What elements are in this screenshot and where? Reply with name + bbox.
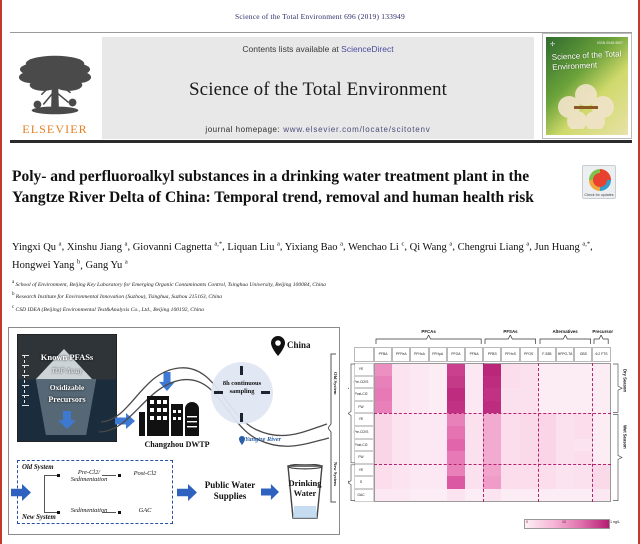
heatmap-cell [447,388,465,401]
heatmap-cell [429,388,447,401]
heatmap-cell [374,476,392,489]
heatmap-group-label: PFCAs [374,329,483,334]
old-system-label: Old System [22,464,54,471]
author-name: Jun Huang a,* [535,242,591,253]
heatmap-cell [374,426,392,439]
heatmap-cell [483,451,501,464]
heatmap-cell [429,413,447,426]
heatmap-cell [556,451,574,464]
contents-prefix: Contents lists available at [242,44,341,54]
sampling-label-line1: 8h continuous [223,380,261,387]
colorbar-tick-mid: 10 [562,520,566,524]
heatmap-cell [374,451,392,464]
heatmap-cell [592,426,610,439]
heatmap-cell [447,426,465,439]
cover-issn: ISSN 0048-9697 [597,41,623,45]
flow-node-sedimentation: Sedimentation [62,507,116,514]
heatmap-cell [465,401,483,414]
heatmap-cell [429,451,447,464]
heatmap-column-header-cell [520,347,538,362]
heatmap-group-label: Precursor [592,329,610,334]
heatmap-group-divider [592,363,593,502]
heatmap-cell [392,476,410,489]
heatmap-cell [520,476,538,489]
heatmap-cell [501,439,519,452]
heatmap-cell [410,401,428,414]
heatmap-system-label: New System [348,470,349,495]
heatmap-cell [538,376,556,389]
heatmap-cell [483,413,501,426]
author-name: Giovanni Cagnetta a,* [133,242,222,253]
heatmap-group-divider [483,363,484,502]
flow-node-prechlorination: Pre-Cl2/ Sedimentation [62,469,116,483]
heatmap-cell [483,376,501,389]
heatmap-cell [556,401,574,414]
heatmap-column-header-cell [392,347,410,362]
heatmap-cell [520,363,538,376]
heatmap-cell [465,451,483,464]
heatmap-cell [538,476,556,489]
heatmap-cell [483,388,501,401]
crossmark-badge[interactable]: Check for updates [582,165,616,205]
running-head: Science of the Total Environment 696 (20… [2,12,638,21]
cover-logo-mark: ✢ [550,41,555,48]
public-supplies-line1: Public Water [205,480,256,490]
drinking-water-label: Drinking Water [281,478,329,498]
heatmap-cell [574,401,592,414]
heatmap-column-header-cell [538,347,556,362]
heatmap-cell [447,464,465,477]
author-name: Chengrui Liang a [458,242,530,253]
factory-icon [137,390,207,438]
heatmap-cell [483,426,501,439]
heatmap-cell [483,464,501,477]
heatmap-column-header-cell [447,347,465,362]
heatmap-row-header-cell [354,476,374,489]
heatmap-cell [410,388,428,401]
heatmap-cell [374,439,392,452]
heatmap-row-header-cell [354,464,374,477]
heatmap-cell [501,451,519,464]
heatmap-cell [410,426,428,439]
author-affiliation-mark: a [125,240,128,247]
heatmap-season-divider [374,464,611,465]
heatmap-cell [538,451,556,464]
heatmap-cell [592,388,610,401]
river-label: Yangtze River [245,436,281,443]
map-pin-icon [271,336,285,356]
title-block: Poly- and perfluoroalkyl substances in a… [12,166,628,208]
heatmap-figure: PFCAsPFSAsAlternativesPrecursorPFBAPFPeA… [348,327,636,537]
heatmap-cell [501,489,519,502]
author-affiliation-mark: a [59,240,62,247]
heatmap-cell [447,489,465,502]
contents-line: Contents lists available at ScienceDirec… [242,44,393,54]
heatmap-group-brace [374,335,483,344]
heatmap-cell [538,439,556,452]
heatmap-system-label: Old System [348,377,349,400]
heatmap-cell [374,413,392,426]
heatmap-cell [501,476,519,489]
crossmark-icon: Check for updates [582,165,616,199]
heatmap-cell [483,363,501,376]
heatmap-season-label: Wet Season [623,425,628,449]
journal-masthead: ELSEVIER Contents lists available at Sci… [10,32,632,139]
heatmap-cell [483,439,501,452]
heatmap-cell [429,439,447,452]
heatmap-cell [592,413,610,426]
author-affiliation-mark: a [340,240,343,247]
heatmap-column-header-cell [592,347,610,362]
elsevier-wordmark: ELSEVIER [22,122,87,137]
cover-title: Science of the Total Environment [552,49,625,73]
heatmap-cell [501,388,519,401]
heatmap-row-header-cell [354,376,374,389]
heatmap-cell [520,426,538,439]
heatmap-cell [447,451,465,464]
heatmap-cell [374,363,392,376]
country-label: China [287,340,311,350]
heatmap-cell [574,413,592,426]
heatmap-cell [538,464,556,477]
author-name: Hongwei Yang b [12,260,80,271]
heatmap-cell [374,388,392,401]
heatmap-cell [574,363,592,376]
heatmap-column-header-cell [483,347,501,362]
author-affiliation-mark: a [277,240,280,247]
heatmap-row-header-cell [354,489,374,502]
heatmap-cell [392,426,410,439]
heatmap-cell [592,476,610,489]
colorbar-unit: 1 ng/L [610,520,620,524]
heatmap-cell [465,376,483,389]
author-affiliation-mark: a [449,240,452,247]
heatmap-cell [483,476,501,489]
heatmap-cell [392,363,410,376]
process-schematic: Known PFASs TOP Assay Oxidizable Precurs… [8,327,340,535]
drinking-line2: Water [294,488,317,498]
heatmap-corner-cell [354,347,374,362]
heatmap-cell [429,376,447,389]
new-system-label: New System [22,514,56,521]
author-affiliation-mark: a [125,259,128,266]
heatmap-column-header-cell [465,347,483,362]
heatmap-cell [429,476,447,489]
affiliation-item: b Research Institute for Environmental I… [12,290,628,302]
colorbar-tick-min: 0 [526,520,528,524]
heatmap-cell [447,439,465,452]
heatmap-cell [520,489,538,502]
sampling-label: 8h continuous sampling [207,380,277,396]
heatmap-column-header-cell [410,347,428,362]
heatmap-cell [483,489,501,502]
heatmap-cell [538,401,556,414]
author-affiliation-mark: c [401,240,404,247]
heatmap-group-divider [538,363,539,502]
heatmap-cell [556,388,574,401]
author-affiliation-mark: a,* [582,240,590,247]
crossmark-ring-icon [589,169,611,191]
author-name: Wenchao Li c [348,242,404,253]
side-label-new-system: New System [333,462,338,486]
heatmap-cell [592,439,610,452]
heatmap-cell [520,376,538,389]
heatmap-column-header-cell [501,347,519,362]
plant-label: Changzhou DWTP [117,440,237,449]
heatmap-cell [465,476,483,489]
heatmap-cell [447,363,465,376]
author-name: Yingxi Qu a [12,242,62,253]
heatmap-cell [556,376,574,389]
heatmap-cell [410,376,428,389]
sampling-label-line2: sampling [230,388,255,395]
heatmap-cell [447,413,465,426]
heatmap-cell [374,401,392,414]
flow-node-dot [118,474,121,477]
journal-banner: Contents lists available at ScienceDirec… [102,37,534,139]
heatmap-cell [410,476,428,489]
crossmark-label: Check for updates [583,193,615,197]
affiliation-item: c CSD IDEA (Beijing) Environmental Test&… [12,303,628,315]
flow-node-pre-line1: Pre-Cl2/ [78,469,100,476]
affiliation-text: School of Environment, Beijing Key Labor… [15,282,326,288]
heatmap-cell [374,489,392,502]
heatmap-cell [410,464,428,477]
heatmap-cell [556,439,574,452]
heatmap-cell [429,401,447,414]
affiliation-list: a School of Environment, Beijing Key Lab… [12,278,628,315]
heatmap-cell [501,464,519,477]
heatmap-row-header-cell [354,451,374,464]
heatmap-cell [574,476,592,489]
journal-title: Science of the Total Environment [189,79,447,101]
heatmap-cell [410,451,428,464]
author-affiliation-mark: a [526,240,529,247]
heatmap-cell [374,464,392,477]
heatmap-cell [574,464,592,477]
heatmap-column-header-cell [429,347,447,362]
affiliation-item: a School of Environment, Beijing Key Lab… [12,278,628,290]
author-name: Gang Yu a [86,260,128,271]
heatmap-cell [556,413,574,426]
heatmap-cell [392,401,410,414]
heatmap-cell [538,489,556,502]
heatmap-cell [592,489,610,502]
author-affiliation-mark: b [77,259,80,266]
heatmap-group-brace [538,335,593,344]
heatmap-column-header-cell [374,347,392,362]
heatmap-cell [447,476,465,489]
heatmap-cell [592,451,610,464]
heatmap-cell [374,376,392,389]
heatmap-cell [429,489,447,502]
heatmap-cell [538,426,556,439]
heatmap-cell [501,376,519,389]
heatmap-group-brace [592,335,610,344]
midflow-arrow-icon [177,484,197,501]
flow-node-dot [118,511,121,514]
flow-node-gac: GAC [122,507,168,514]
journal-homepage-line: journal homepage: www.elsevier.com/locat… [205,125,430,134]
homepage-url[interactable]: www.elsevier.com/locate/scitotenv [283,125,430,134]
heatmap-cell [392,376,410,389]
author-name: Liquan Liu a [227,242,279,253]
heatmap-cell [465,388,483,401]
heatmap-cell [465,413,483,426]
flow-node-dot [57,474,60,477]
heatmap-cell [556,476,574,489]
heatmap-cell [520,464,538,477]
heatmap-cell [520,451,538,464]
heatmap-cell [556,363,574,376]
author-name: Qi Wang a [410,242,453,253]
heatmap-cell [592,464,610,477]
heatmap-cell [483,401,501,414]
heatmap-group-label: PFSAs [483,329,538,334]
author-name: Yixiang Bao a [285,242,343,253]
heatmap-row-header-cell [354,388,374,401]
author-list: Yingxi Qu a, Xinshu Jiang a, Giovanni Ca… [12,236,624,273]
heatmap-cell [592,376,610,389]
heatmap-cell [392,451,410,464]
heatmap-cell [410,413,428,426]
heatmap-row-header-cell [354,363,374,376]
heatmap-season-label: Dry Season [623,369,628,392]
heatmap-cell [429,426,447,439]
heatmap-cell [538,363,556,376]
cover-flower-icon [554,83,618,129]
heatmap-cell [465,489,483,502]
journal-cover-thumbnail: Science of the Total Environment ISSN 00… [542,33,632,139]
heatmap-cell [538,413,556,426]
heatmap-row-header-cell [354,426,374,439]
heatmap-cell [501,401,519,414]
heatmap-cell [392,489,410,502]
heatmap-cell [501,363,519,376]
paper-page: Science of the Total Environment 696 (20… [0,0,640,544]
masthead-rule [10,140,632,143]
heatmap-row-header-cell [354,401,374,414]
heatmap-cell [465,363,483,376]
treatment-flow-diagram: Old System New System Pre-Cl2/ Sedimenta… [17,460,173,524]
heatmap-cell [465,426,483,439]
public-supplies-label: Public Water Supplies [199,480,261,502]
heatmap-cell [392,388,410,401]
elsevier-logo: ELSEVIER [12,37,98,137]
heatmap-cell [520,388,538,401]
elsevier-tree-icon [16,49,94,121]
heatmap-cell [574,376,592,389]
heatmap-system-braces [348,363,355,502]
heatmap-row-header-cell [354,413,374,426]
author-affiliation-mark: a,* [214,240,222,247]
heatmap-cell [410,489,428,502]
heatmap-cell [447,401,465,414]
flow-node-postchlorination: Post-Cl2 [122,470,168,477]
heatmap-cell [392,439,410,452]
heatmap-column-header-cell [556,347,574,362]
affiliation-text: Research Institute for Environmental Inn… [16,294,222,300]
heatmap-cell [465,464,483,477]
heatmap-cell [429,363,447,376]
public-supplies-line2: Supplies [214,491,247,501]
heatmap-cell [501,413,519,426]
heatmap-cell [520,439,538,452]
heatmap-cell [574,451,592,464]
heatmap-cell [556,464,574,477]
heatmap-cell [556,489,574,502]
heatmap-cell [574,388,592,401]
heatmap-cell [447,376,465,389]
heatmap-cell [538,388,556,401]
heatmap-cell [556,426,574,439]
heatmap-season-divider [374,413,611,414]
heatmap-cell [574,439,592,452]
heatmap-cell [501,426,519,439]
heatmap-season-braces [613,363,623,502]
heatmap-cell [520,401,538,414]
cover-artwork: Science of the Total Environment ISSN 00… [546,37,628,135]
affiliation-text: CSD IDEA (Beijing) Environmental Test&An… [15,306,203,312]
sciencedirect-link[interactable]: ScienceDirect [341,44,393,54]
heatmap-group-brace [483,335,538,344]
homepage-label: journal homepage: [205,125,280,134]
heatmap-cell [592,401,610,414]
heatmap-cell [410,439,428,452]
heatmap-colorbar [524,519,610,529]
heatmap-cell [392,464,410,477]
heatmap-row-header-cell [354,439,374,452]
heatmap-cell [465,439,483,452]
side-label-old-system: Old System [333,372,338,395]
heatmap-cell [392,413,410,426]
page-title: Poly- and perfluoroalkyl substances in a… [12,166,552,208]
heatmap-cell [574,426,592,439]
heatmap-column-header-cell [574,347,592,362]
heatmap-cell [410,363,428,376]
flow-node-pre-line2: Sedimentation [71,476,108,483]
heatmap-cell [429,464,447,477]
graphical-abstract: Known PFASs TOP Assay Oxidizable Precurs… [8,327,636,537]
flow-node-dot [57,511,60,514]
author-name: Xinshu Jiang a [67,242,128,253]
drinking-line1: Drinking [288,478,321,488]
heatmap-cell [520,413,538,426]
heatmap-cell [592,363,610,376]
heatmap-group-label: Alternatives [538,329,593,334]
heatmap-cell [574,489,592,502]
outflow-arrow-icon [261,484,279,500]
